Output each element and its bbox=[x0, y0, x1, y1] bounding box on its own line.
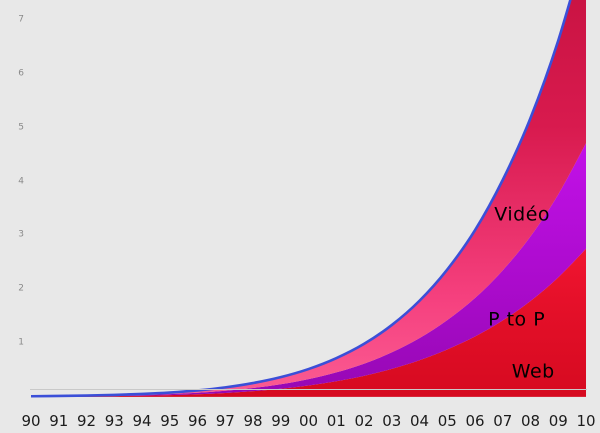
x-tick-label: 96 bbox=[188, 414, 207, 429]
x-axis: 9091929394959697989900010203040506070809… bbox=[0, 403, 600, 429]
series-label-video: Vidéo bbox=[494, 206, 550, 225]
y-tick-label: 6 bbox=[18, 69, 24, 78]
y-tick-label: 2 bbox=[18, 285, 24, 294]
x-axis-line bbox=[30, 389, 587, 390]
x-tick-label: 92 bbox=[77, 414, 96, 429]
x-tick-label: 97 bbox=[216, 414, 235, 429]
y-axis: 1234567 bbox=[0, 0, 30, 400]
x-tick-label: 03 bbox=[382, 414, 401, 429]
x-tick-label: 02 bbox=[354, 414, 373, 429]
series-label-web: Web bbox=[512, 363, 555, 382]
x-tick-label: 99 bbox=[271, 414, 290, 429]
series-label-p-to-p: P to P bbox=[488, 311, 545, 330]
x-tick-label: 90 bbox=[21, 414, 40, 429]
x-tick-label: 04 bbox=[410, 414, 429, 429]
y-tick-label: 3 bbox=[18, 231, 24, 240]
y-tick-label: 4 bbox=[18, 177, 24, 186]
x-tick-label: 94 bbox=[132, 414, 151, 429]
x-tick-label: 95 bbox=[160, 414, 179, 429]
x-tick-label: 91 bbox=[49, 414, 68, 429]
chart-container: 1234567 90919293949596979899000102030405… bbox=[0, 0, 600, 433]
y-tick-label: 7 bbox=[18, 16, 24, 25]
y-tick-label: 1 bbox=[18, 339, 24, 348]
x-tick-label: 98 bbox=[243, 414, 262, 429]
x-tick-label: 05 bbox=[438, 414, 457, 429]
x-tick-label: 00 bbox=[299, 414, 318, 429]
x-tick-label: 08 bbox=[521, 414, 540, 429]
x-tick-label: 07 bbox=[493, 414, 512, 429]
x-tick-label: 10 bbox=[576, 414, 595, 429]
y-tick-label: 5 bbox=[18, 123, 24, 132]
x-tick-label: 01 bbox=[327, 414, 346, 429]
x-tick-label: 06 bbox=[465, 414, 484, 429]
x-tick-label: 93 bbox=[105, 414, 124, 429]
x-tick-label: 09 bbox=[549, 414, 568, 429]
